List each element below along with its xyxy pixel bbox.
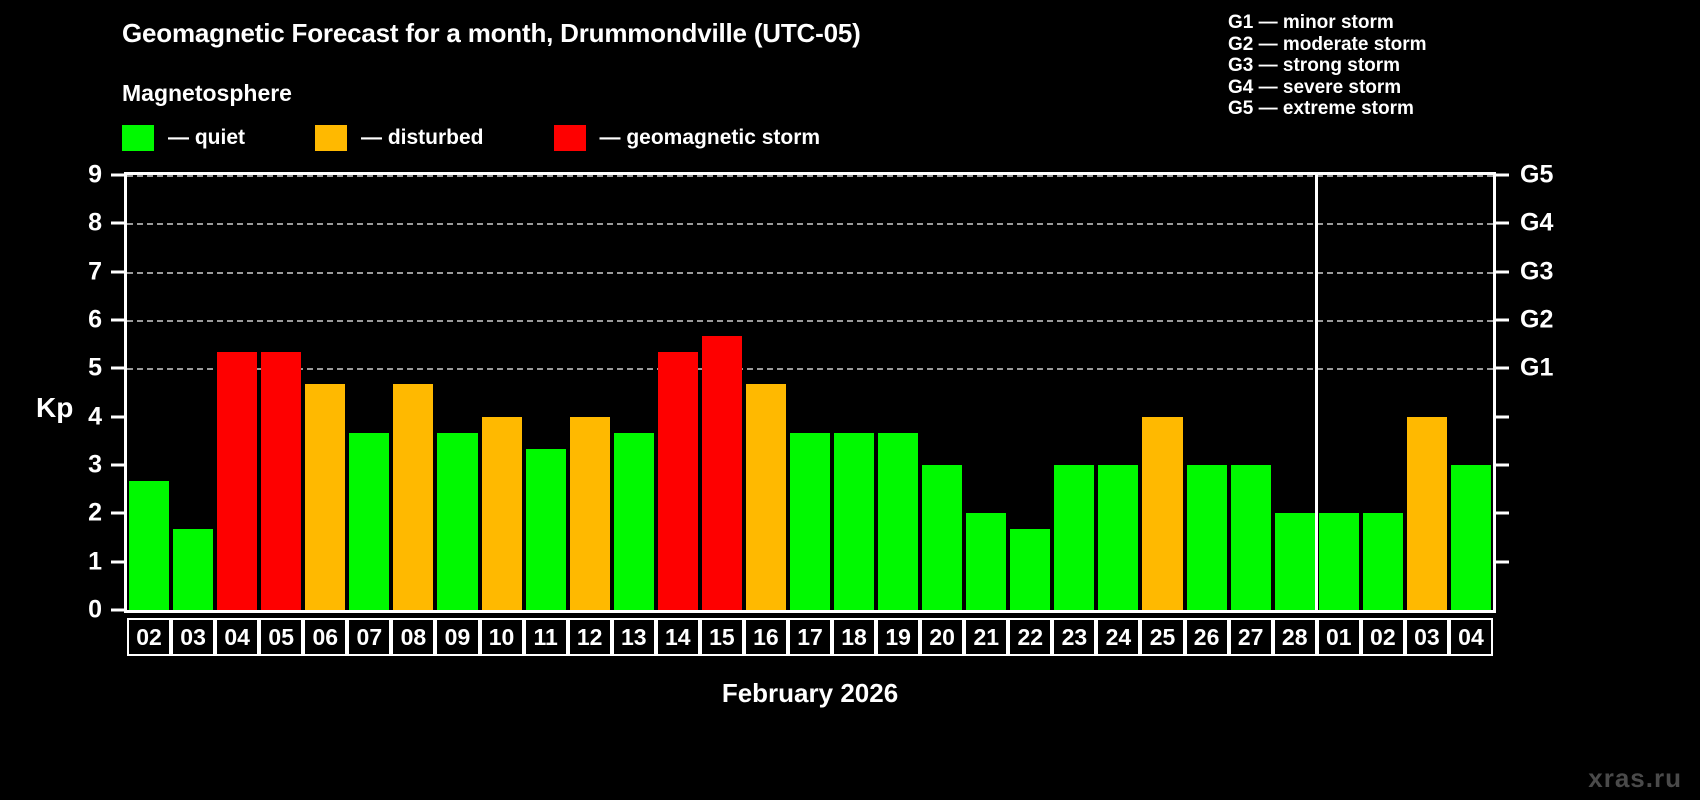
g-tick-mark-G4 — [1496, 222, 1509, 225]
x-label-21[interactable]: 23 — [1052, 618, 1096, 656]
bar-28[interactable] — [1275, 513, 1315, 610]
y-axis-title: Kp — [36, 392, 73, 424]
g-tick-mark-minor-3 — [1496, 464, 1509, 467]
plot-area — [124, 172, 1496, 613]
g-tick-mark-G5 — [1496, 174, 1509, 177]
g-tick-label-G5: G5 — [1520, 161, 1553, 190]
bar-08[interactable] — [393, 384, 433, 610]
x-label-13[interactable]: 15 — [700, 618, 744, 656]
y-tick-label-9: 9 — [88, 161, 102, 190]
y-tick-mark-2 — [111, 512, 124, 515]
x-label-8[interactable]: 10 — [480, 618, 524, 656]
y-tick-mark-1 — [111, 560, 124, 563]
gscale-legend: G1 — minor storm G2 — moderate storm G3 … — [1228, 12, 1427, 120]
y-tick-label-3: 3 — [88, 451, 102, 480]
gscale-item-g5: G5 — extreme storm — [1228, 98, 1427, 120]
bar-17[interactable] — [790, 433, 830, 610]
x-label-5[interactable]: 07 — [347, 618, 391, 656]
g-tick-label-G4: G4 — [1520, 209, 1553, 238]
y-tick-label-4: 4 — [88, 402, 102, 431]
g-tick-mark-minor-4 — [1496, 415, 1509, 418]
bar-05[interactable] — [261, 352, 301, 610]
g-axis: G1G2G3G4G5 — [1496, 172, 1696, 613]
x-label-24[interactable]: 26 — [1185, 618, 1229, 656]
plot-inner — [127, 175, 1493, 610]
y-tick-mark-9 — [111, 174, 124, 177]
bar-03[interactable] — [1407, 417, 1447, 610]
gscale-item-g2: G2 — moderate storm — [1228, 34, 1427, 56]
g-tick-label-G2: G2 — [1520, 306, 1553, 335]
bar-12[interactable] — [570, 417, 610, 610]
g-tick-mark-minor-2 — [1496, 512, 1509, 515]
x-label-28[interactable]: 02 — [1361, 618, 1405, 656]
x-label-20[interactable]: 22 — [1008, 618, 1052, 656]
y-tick-mark-8 — [111, 222, 124, 225]
legend-swatch-quiet-icon — [122, 125, 154, 151]
bar-02[interactable] — [129, 481, 169, 610]
gscale-item-g4: G4 — severe storm — [1228, 77, 1427, 99]
legend-label-disturbed: — disturbed — [361, 126, 484, 150]
bar-23[interactable] — [1054, 465, 1094, 610]
bar-06[interactable] — [305, 384, 345, 610]
x-label-16[interactable]: 18 — [832, 618, 876, 656]
x-label-7[interactable]: 09 — [435, 618, 479, 656]
bar-27[interactable] — [1231, 465, 1271, 610]
bar-01[interactable] — [1319, 513, 1359, 610]
legend-item-quiet: — quiet — [122, 125, 245, 151]
x-label-4[interactable]: 06 — [303, 618, 347, 656]
bar-21[interactable] — [966, 513, 1006, 610]
x-label-15[interactable]: 17 — [788, 618, 832, 656]
y-tick-mark-4 — [111, 415, 124, 418]
magnetosphere-legend: — quiet — disturbed — geomagnetic storm — [122, 124, 820, 152]
bar-14[interactable] — [658, 352, 698, 610]
x-label-18[interactable]: 20 — [920, 618, 964, 656]
x-label-1[interactable]: 03 — [171, 618, 215, 656]
bar-04[interactable] — [217, 352, 257, 610]
x-label-9[interactable]: 11 — [524, 618, 568, 656]
page-title: Geomagnetic Forecast for a month, Drummo… — [122, 18, 861, 49]
y-tick-mark-5 — [111, 367, 124, 370]
bar-18[interactable] — [834, 433, 874, 610]
y-tick-label-5: 5 — [88, 354, 102, 383]
legend-label-quiet: — quiet — [168, 126, 245, 150]
x-label-23[interactable]: 25 — [1140, 618, 1184, 656]
bar-10[interactable] — [482, 417, 522, 610]
month-separator — [1315, 175, 1318, 610]
geomagnetic-forecast-chart: Geomagnetic Forecast for a month, Drummo… — [0, 0, 1700, 800]
legend-swatch-storm-icon — [554, 125, 586, 151]
x-label-22[interactable]: 24 — [1096, 618, 1140, 656]
y-tick-label-6: 6 — [88, 306, 102, 335]
bar-25[interactable] — [1142, 417, 1182, 610]
x-label-30[interactable]: 04 — [1449, 618, 1493, 656]
gscale-item-g3: G3 — strong storm — [1228, 55, 1427, 77]
x-label-25[interactable]: 27 — [1229, 618, 1273, 656]
x-label-14[interactable]: 16 — [744, 618, 788, 656]
g-tick-mark-G1 — [1496, 367, 1509, 370]
bar-20[interactable] — [922, 465, 962, 610]
y-tick-label-7: 7 — [88, 257, 102, 286]
y-tick-mark-0 — [111, 609, 124, 612]
y-tick-mark-6 — [111, 319, 124, 322]
g-tick-label-G3: G3 — [1520, 257, 1553, 286]
x-label-17[interactable]: 19 — [876, 618, 920, 656]
watermark: xras.ru — [1588, 763, 1682, 794]
g-tick-mark-G3 — [1496, 270, 1509, 273]
x-axis-date-labels: 0203040506070809101112131415161718192021… — [124, 618, 1496, 656]
bar-02[interactable] — [1363, 513, 1403, 610]
gscale-item-g1: G1 — minor storm — [1228, 12, 1427, 34]
y-tick-label-0: 0 — [88, 596, 102, 625]
legend-swatch-disturbed-icon — [315, 125, 347, 151]
bar-15[interactable] — [702, 336, 742, 610]
y-tick-mark-3 — [111, 464, 124, 467]
x-label-12[interactable]: 14 — [656, 618, 700, 656]
x-label-10[interactable]: 12 — [568, 618, 612, 656]
legend-item-storm: — geomagnetic storm — [554, 125, 821, 151]
bar-24[interactable] — [1098, 465, 1138, 610]
bar-11[interactable] — [526, 449, 566, 610]
bar-22[interactable] — [1010, 529, 1050, 610]
bar-19[interactable] — [878, 433, 918, 610]
g-tick-label-G1: G1 — [1520, 354, 1553, 383]
x-label-3[interactable]: 05 — [259, 618, 303, 656]
bar-26[interactable] — [1187, 465, 1227, 610]
bar-03[interactable] — [173, 529, 213, 610]
y-tick-label-1: 1 — [88, 547, 102, 576]
bar-09[interactable] — [437, 433, 477, 610]
x-label-0[interactable]: 02 — [127, 618, 171, 656]
x-label-6[interactable]: 08 — [391, 618, 435, 656]
x-label-19[interactable]: 21 — [964, 618, 1008, 656]
x-label-27[interactable]: 01 — [1317, 618, 1361, 656]
bar-16[interactable] — [746, 384, 786, 610]
g-tick-mark-G2 — [1496, 319, 1509, 322]
x-label-11[interactable]: 13 — [612, 618, 656, 656]
x-label-26[interactable]: 28 — [1273, 618, 1317, 656]
legend-label-storm: — geomagnetic storm — [600, 126, 821, 150]
bar-series — [127, 175, 1493, 610]
magnetosphere-legend-title: Magnetosphere — [122, 80, 292, 107]
g-tick-mark-minor-1 — [1496, 560, 1509, 563]
bar-13[interactable] — [614, 433, 654, 610]
y-tick-label-2: 2 — [88, 499, 102, 528]
bar-04[interactable] — [1451, 465, 1491, 610]
bar-07[interactable] — [349, 433, 389, 610]
x-label-29[interactable]: 03 — [1405, 618, 1449, 656]
x-label-2[interactable]: 04 — [215, 618, 259, 656]
legend-item-disturbed: — disturbed — [315, 125, 484, 151]
y-tick-label-8: 8 — [88, 209, 102, 238]
y-tick-mark-7 — [111, 270, 124, 273]
x-axis-title: February 2026 — [124, 678, 1496, 709]
